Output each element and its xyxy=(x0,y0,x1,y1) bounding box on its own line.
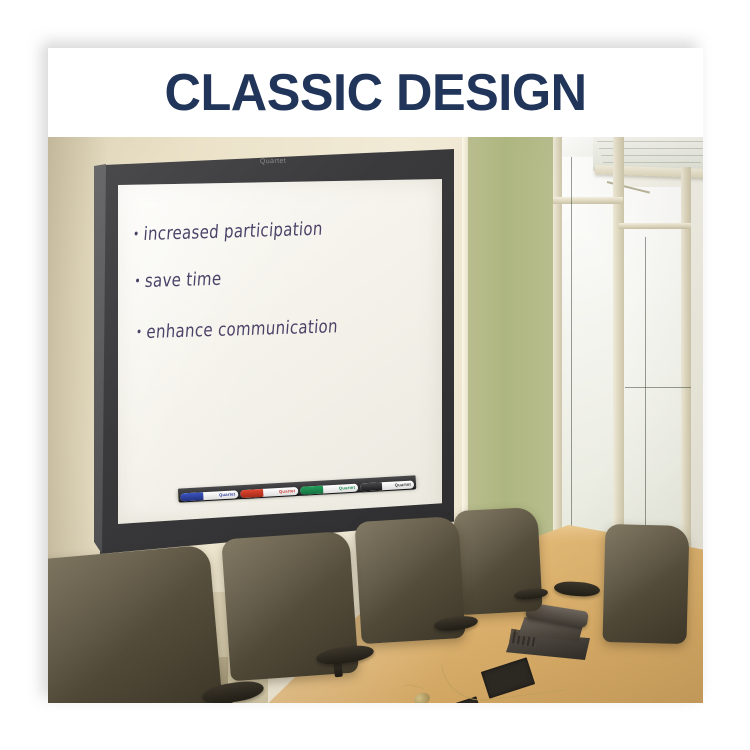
marker-label-black: Quartet xyxy=(395,481,412,487)
chair-highlight xyxy=(602,524,689,644)
marker-cap-red xyxy=(240,489,264,498)
marker-cap-blue xyxy=(180,492,204,501)
bullet-dot-icon xyxy=(136,279,139,283)
window-mullion-horizontal xyxy=(619,223,691,229)
page-title: CLASSIC DESIGN xyxy=(164,67,586,119)
marker-label-blue: Quartet xyxy=(219,491,236,497)
chair-highlight xyxy=(48,545,223,703)
glass-reflection-line xyxy=(571,157,572,587)
bullet-dot-icon xyxy=(137,330,140,334)
product-image-card: CLASSIC DESIGN xyxy=(48,48,703,703)
note-text-1: increased participation xyxy=(143,218,324,245)
marker-label-green: Quartet xyxy=(339,484,356,490)
conference-room-photo: Quartet increased participation save tim… xyxy=(48,137,703,703)
marker-cap-black xyxy=(360,482,382,491)
marker-cap-green xyxy=(300,486,324,495)
whiteboard-brand-label: Quartet xyxy=(260,158,286,166)
glass-pane-left xyxy=(557,155,615,585)
note-bullet-2: save time xyxy=(135,262,417,292)
note-text-2: save time xyxy=(144,268,222,292)
title-band: CLASSIC DESIGN xyxy=(48,48,703,137)
window-mullion-horizontal xyxy=(553,197,623,204)
office-chair-1 xyxy=(48,545,223,703)
office-chair-5 xyxy=(602,524,689,644)
marker-label-red: Quartet xyxy=(279,488,296,494)
bullet-dot-icon xyxy=(135,232,138,236)
quartet-whiteboard[interactable]: Quartet increased participation save tim… xyxy=(94,149,454,554)
glass-reflection-line xyxy=(625,387,691,388)
screenshot-root: CLASSIC DESIGN xyxy=(0,0,750,750)
whiteboard-notes: increased participation save time enhanc… xyxy=(134,217,417,341)
